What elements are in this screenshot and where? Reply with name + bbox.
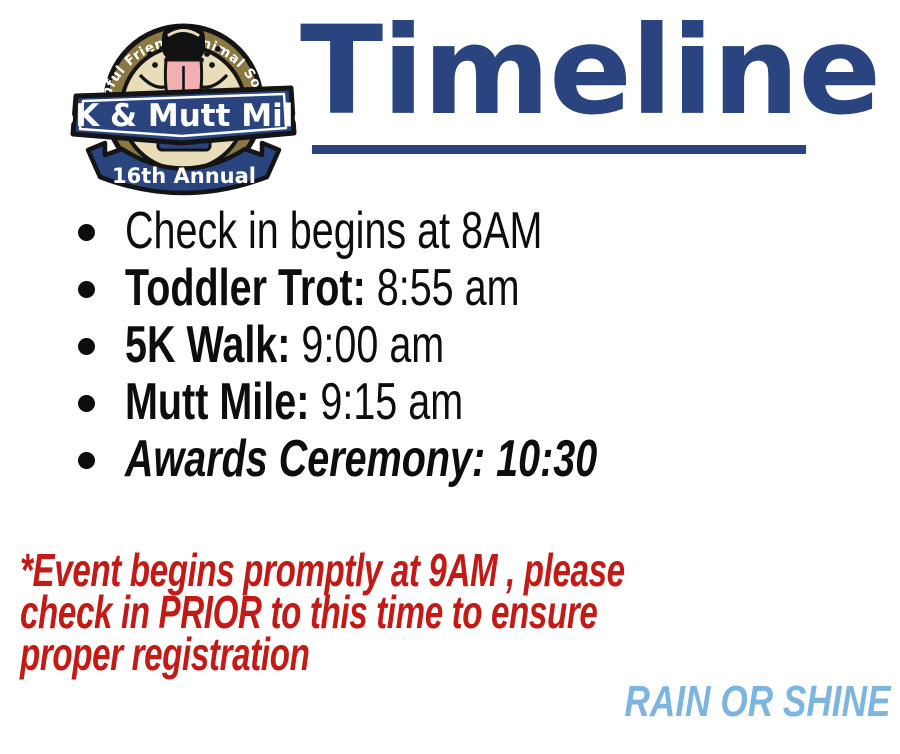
bullet-icon bbox=[78, 224, 95, 241]
list-item: Toddler Trot: 8:55 am bbox=[0, 260, 900, 317]
notice-block: *Event begins promptly at 9AM , please c… bbox=[20, 549, 860, 675]
notice-line: *Event begins promptly at 9AM , please bbox=[20, 549, 625, 591]
logo-banner-text: 5K & Mutt Mile bbox=[62, 98, 305, 134]
rain-or-shine-text: RAIN OR SHINE bbox=[624, 679, 890, 725]
list-item-label: Mutt Mile: bbox=[125, 373, 309, 431]
list-item-value: 9:00 am bbox=[290, 316, 444, 374]
list-item-label: Check in begins at 8AM bbox=[125, 202, 542, 260]
list-item-label: Toddler Trot: bbox=[125, 259, 366, 317]
bullet-icon bbox=[78, 452, 95, 469]
page-title: Timeline bbox=[300, 8, 820, 134]
flyer-header: Faithful Friends Animal Society bbox=[0, 0, 900, 200]
timeline-list: Check in begins at 8AM Toddler Trot: 8:5… bbox=[0, 203, 900, 488]
list-item: Check in begins at 8AM bbox=[0, 203, 900, 260]
list-item: 5K Walk: 9:00 am bbox=[0, 317, 900, 374]
logo-ribbon-text: 16th Annual bbox=[112, 164, 256, 188]
notice-line: proper registration bbox=[20, 633, 625, 675]
page-title-wrapper: Timeline bbox=[300, 8, 820, 158]
list-item-label: Awards Ceremony: 10:30 bbox=[125, 430, 597, 488]
list-item: Awards Ceremony: 10:30 bbox=[0, 431, 900, 488]
notice-line: check in PRIOR to this time to ensure bbox=[20, 591, 625, 633]
list-item-value: 9:15 am bbox=[309, 373, 463, 431]
title-underline bbox=[312, 145, 806, 154]
bullet-icon bbox=[78, 338, 95, 355]
faithful-friends-logo: Faithful Friends Animal Society bbox=[62, 2, 305, 198]
timeline-flyer: Faithful Friends Animal Society bbox=[0, 0, 900, 754]
list-item: Mutt Mile: 9:15 am bbox=[0, 374, 900, 431]
list-item-value: 8:55 am bbox=[366, 259, 520, 317]
bullet-icon bbox=[78, 281, 95, 298]
bullet-icon bbox=[78, 395, 95, 412]
list-item-label: 5K Walk: bbox=[125, 316, 290, 374]
